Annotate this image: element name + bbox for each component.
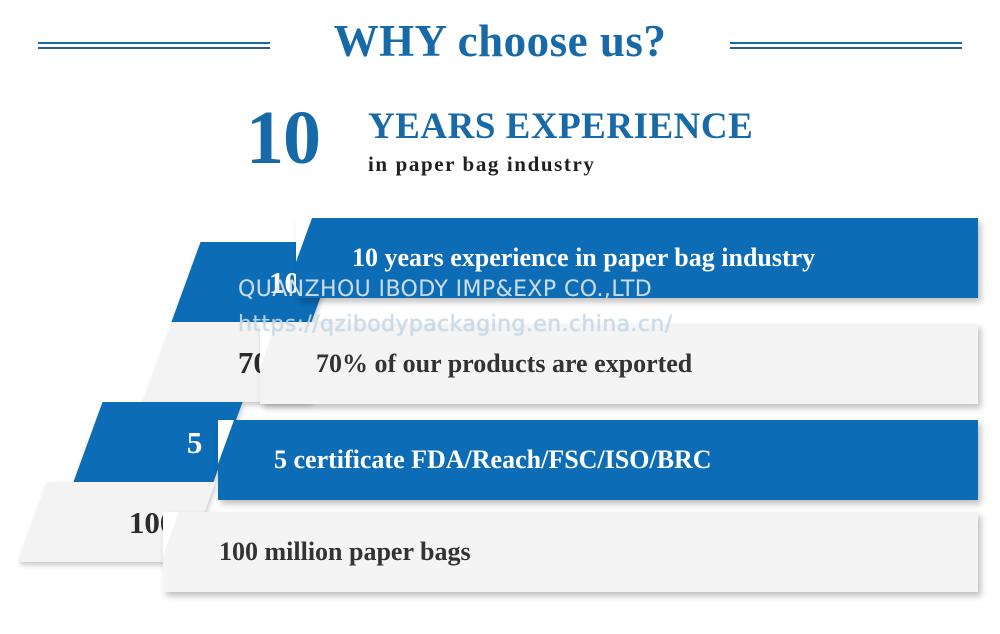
bar-slant-edge — [296, 218, 312, 298]
page-title: WHY choose us? — [0, 13, 1000, 69]
feature-bar-label: 100 million paper bags — [219, 539, 471, 565]
page-header: WHY choose us? — [0, 0, 1000, 92]
feature-bar: 70% of our products are exported — [260, 324, 978, 404]
decorative-rule-right-icon — [730, 42, 962, 49]
bar-slant-edge — [218, 420, 234, 500]
why-choose-us-chart: 10 70% 5 100 10 years experience in pape… — [0, 196, 1000, 634]
bar-slant-edge — [163, 512, 179, 592]
feature-bar: 5 certificate FDA/Reach/FSC/ISO/BRC — [218, 420, 978, 500]
feature-bar-label: 5 certificate FDA/Reach/FSC/ISO/BRC — [274, 447, 712, 473]
subheader: 10 YEARS EXPERIENCE in paper bag industr… — [246, 97, 946, 189]
feature-bar: 100 million paper bags — [163, 512, 978, 592]
years-experience-headline: YEARS EXPERIENCE — [368, 105, 753, 148]
feature-bar-label: 10 years experience in paper bag industr… — [352, 245, 815, 271]
bar-slant-edge — [260, 324, 276, 404]
years-count: 10 — [246, 94, 320, 182]
feature-bar-label: 70% of our products are exported — [316, 351, 692, 377]
rule-line-top — [730, 42, 962, 44]
industry-subline: in paper bag industry — [368, 152, 596, 177]
feature-bar: 10 years experience in paper bag industr… — [296, 218, 978, 298]
rule-line-bottom — [730, 47, 962, 49]
